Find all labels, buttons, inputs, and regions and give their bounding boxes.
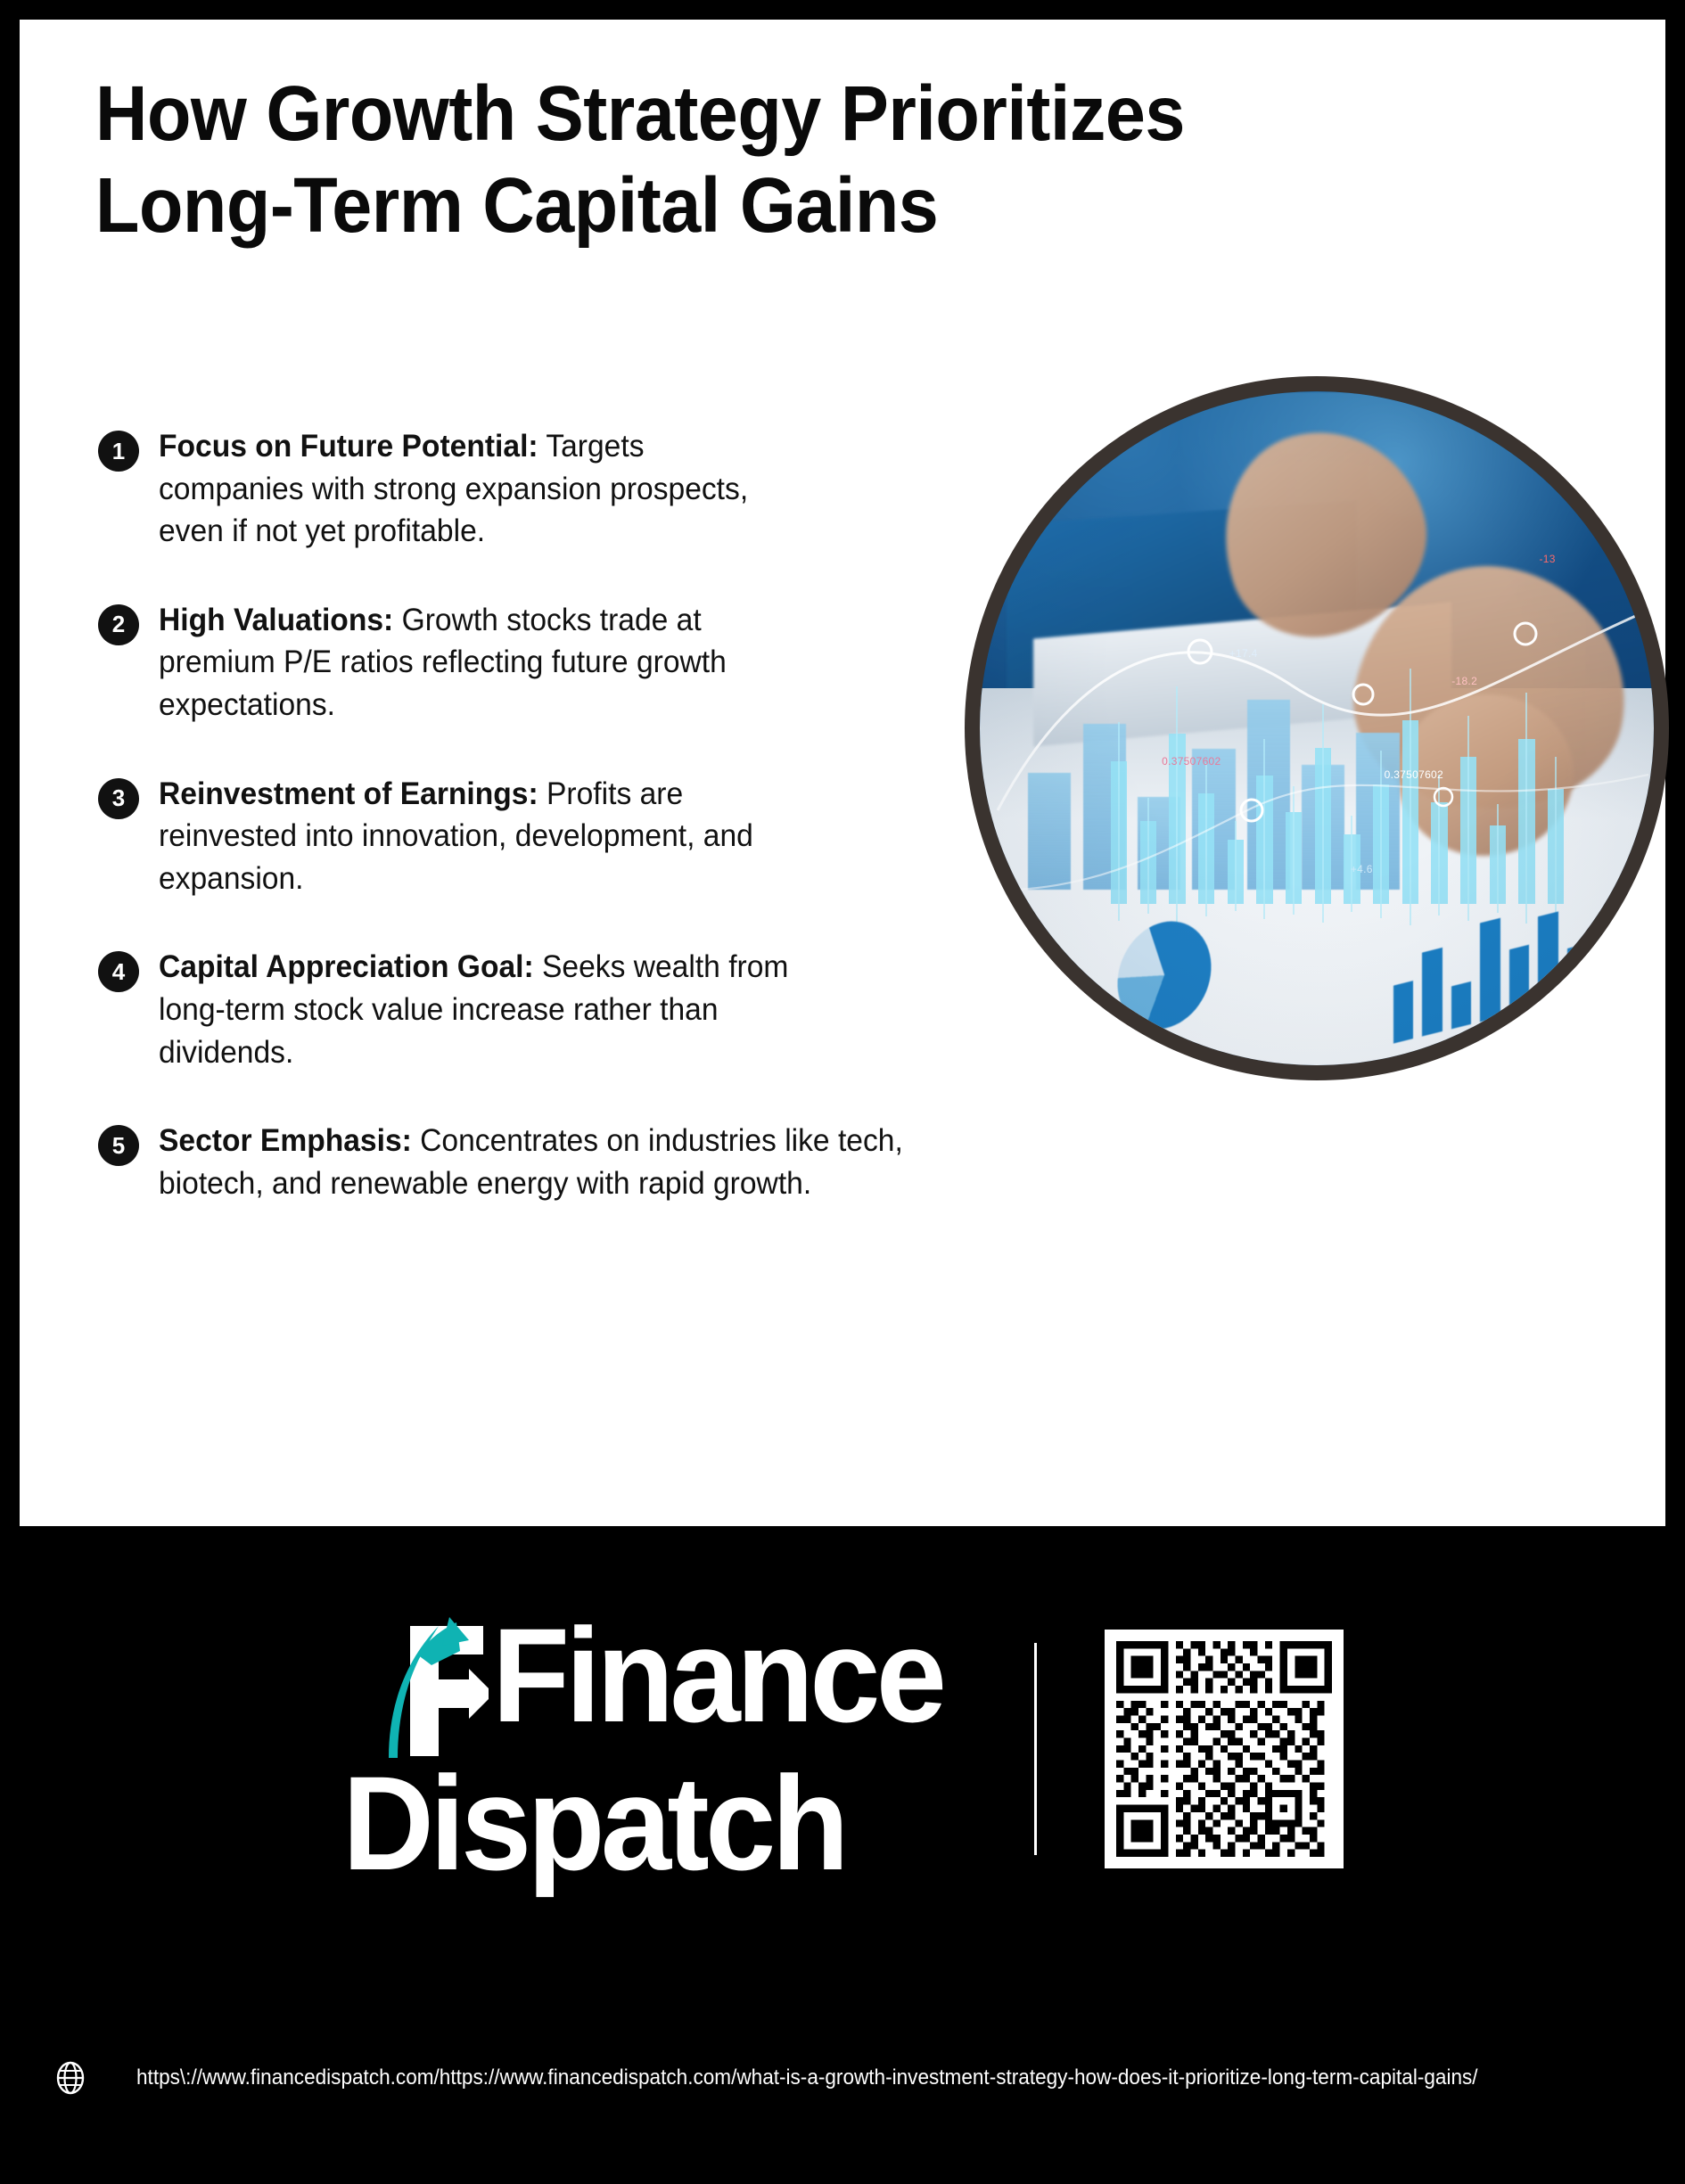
bullet-text: High Valuations: Growth stocks trade at … (159, 599, 792, 727)
qr-code[interactable] (1105, 1630, 1344, 1868)
source-url-bar: https\://www.financedispatch.com/https:/… (0, 1972, 1685, 2184)
bullet-number-badge: 5 (98, 1125, 139, 1166)
page-title: How Growth Strategy Prioritizes Long-Ter… (95, 69, 1455, 251)
list-item: 2 High Valuations: Growth stocks trade a… (98, 599, 1043, 727)
bullet-lead: Focus on Future Potential: (159, 429, 538, 464)
bullet-lead: High Valuations: (159, 603, 393, 637)
photo-value-label: +4.6 (1351, 863, 1373, 875)
growth-arrow-f-icon (383, 1613, 489, 1758)
qr-code-matrix (1116, 1641, 1332, 1857)
bullet-text: Reinvestment of Earnings: Profits are re… (159, 773, 784, 900)
bullet-lead: Sector Emphasis: (159, 1123, 412, 1158)
brand-lockup: Finance Dispatch (342, 1613, 1344, 1884)
brand-divider (1034, 1643, 1037, 1855)
bullet-number-badge: 4 (98, 951, 139, 992)
photo-value-label: -18.2 (1451, 675, 1477, 687)
photo-value-label: 0.37507602 (1162, 755, 1221, 768)
bullet-number-badge: 3 (98, 778, 139, 819)
brand-word-dispatch: Dispatch (342, 1761, 935, 1884)
list-item: 3 Reinvestment of Earnings: Profits are … (98, 773, 1043, 900)
bullet-text: Sector Emphasis: Concentrates on industr… (159, 1120, 1007, 1204)
bullet-text: Focus on Future Potential: Targets compa… (159, 425, 758, 553)
content-card: How Growth Strategy Prioritizes Long-Ter… (20, 20, 1665, 1526)
list-item: 5 Sector Emphasis: Concentrates on indus… (98, 1120, 1043, 1204)
brand-logo: Finance Dispatch (342, 1613, 1020, 1884)
finance-photo: 0.37507602 0.37507602 -13 +4.6 +17.4 -18… (980, 391, 1654, 1065)
bullet-number-badge: 2 (98, 604, 139, 645)
brand-word-finance: Finance (492, 1613, 942, 1737)
bullet-text: Capital Appreciation Goal: Seeks wealth … (159, 946, 843, 1073)
photo-value-label: +17.4 (1229, 647, 1258, 660)
title-line-1: How Growth Strategy Prioritizes (95, 70, 1185, 157)
list-item: 1 Focus on Future Potential: Targets com… (98, 425, 1043, 553)
list-item: 4 Capital Appreciation Goal: Seeks wealt… (98, 946, 1043, 1073)
photo-value-label: -13 (1539, 553, 1555, 565)
circular-photo-frame: 0.37507602 0.37507602 -13 +4.6 +17.4 -18… (965, 376, 1669, 1080)
bullet-number-badge: 1 (98, 431, 139, 472)
photo-value-label: 0.37507602 (1385, 768, 1443, 781)
footer-brand-bar: Finance Dispatch (20, 1526, 1665, 1972)
title-line-2: Long-Term Capital Gains (95, 162, 938, 249)
bullet-lead: Capital Appreciation Goal: (159, 949, 534, 984)
source-url-text[interactable]: https\://www.financedispatch.com/https:/… (136, 2065, 1478, 2090)
poster-root: How Growth Strategy Prioritizes Long-Ter… (0, 0, 1685, 2184)
bullet-list: 1 Focus on Future Potential: Targets com… (98, 425, 1043, 1240)
bullet-lead: Reinvestment of Earnings: (159, 776, 538, 811)
globe-icon (53, 2061, 87, 2095)
